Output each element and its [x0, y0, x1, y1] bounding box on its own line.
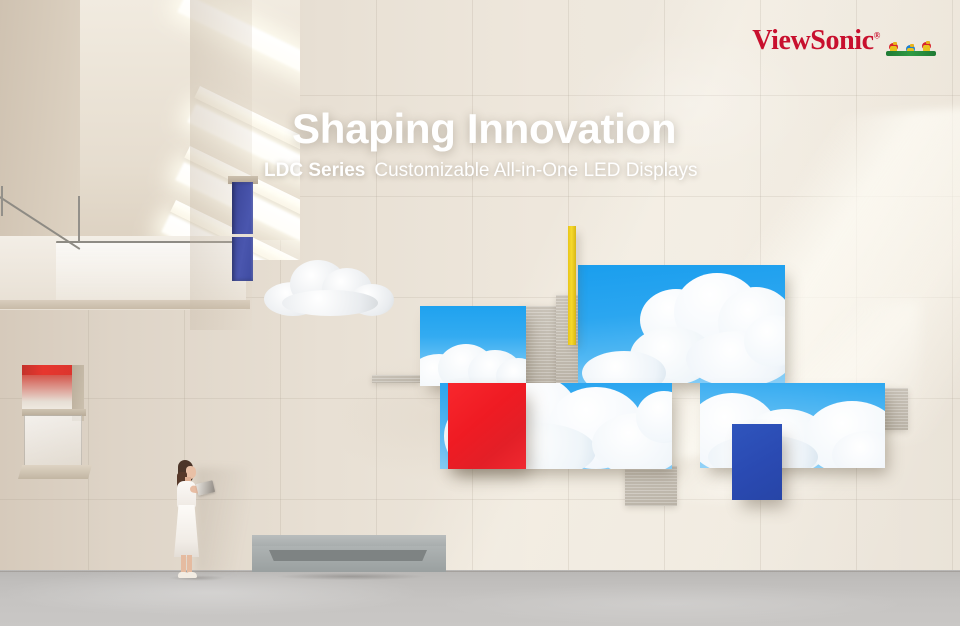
brand-wordmark: ViewSonic® — [752, 27, 880, 55]
page-subtitle: LDC SeriesCustomizable All-in-One LED Di… — [264, 160, 698, 182]
page-title: Shaping Innovation — [292, 105, 676, 153]
skirt — [174, 505, 199, 557]
bench-cutout — [269, 550, 427, 561]
registered-mark: ® — [874, 31, 880, 41]
led-panel-sky-left — [420, 306, 526, 386]
woman-reading-book — [166, 460, 206, 580]
led-panel-sky-main — [578, 265, 785, 383]
led-panel-sky-right — [700, 383, 885, 468]
led-panel-accent-blue — [732, 424, 782, 500]
tagline: Customizable All-in-One LED Displays — [374, 160, 697, 181]
concrete-block — [625, 466, 677, 506]
concrete-block — [884, 388, 908, 430]
concrete-bench — [252, 535, 446, 575]
floor-reflection-sheen — [0, 570, 960, 626]
led-panel-accent-yellow — [568, 226, 576, 345]
three-finches-logo-icon — [886, 26, 936, 56]
led-display-wall — [0, 0, 960, 626]
concrete-block — [372, 375, 420, 383]
branch — [886, 51, 936, 56]
shoe — [186, 572, 197, 578]
marketing-hero-image: Shaping Innovation LDC SeriesCustomizabl… — [0, 0, 960, 626]
brand-logo: ViewSonic® — [752, 24, 936, 58]
led-panel-accent-red — [448, 383, 526, 469]
series-label: LDC Series — [264, 160, 365, 181]
